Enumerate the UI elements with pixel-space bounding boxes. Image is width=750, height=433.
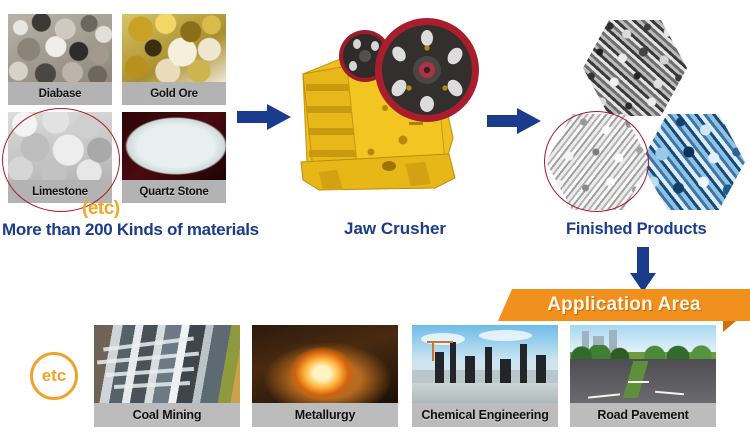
application-card-label: Metallurgy bbox=[252, 403, 398, 427]
material-card-label: Diabase bbox=[8, 82, 112, 105]
finished-hexagon-blue[interactable] bbox=[641, 112, 745, 212]
application-card-label: Chemical Engineering bbox=[412, 403, 558, 427]
metallurgy-photo-icon bbox=[252, 325, 398, 403]
etc-label: etc bbox=[42, 366, 67, 386]
material-card-label: Quartz Stone bbox=[122, 180, 226, 203]
arrow-shaft bbox=[237, 111, 271, 123]
application-etc-badge: etc bbox=[30, 352, 78, 400]
road-photo-icon bbox=[570, 325, 716, 403]
material-card-limestone[interactable]: Limestone bbox=[8, 112, 112, 203]
gold-ore-photo-icon bbox=[122, 14, 226, 82]
chemical-plant-photo-icon bbox=[412, 325, 558, 403]
application-card-label: Coal Mining bbox=[94, 403, 240, 427]
coal-mine-photo-icon bbox=[94, 325, 240, 403]
application-card-metallurgy[interactable]: Metallurgy bbox=[252, 325, 398, 427]
application-card-label: Road Pavement bbox=[570, 403, 716, 427]
finished-caption: Finished Products bbox=[566, 220, 707, 239]
finished-highlight-circle-icon bbox=[544, 111, 649, 212]
arrow-right-icon bbox=[237, 104, 291, 130]
material-card-gold-ore[interactable]: Gold Ore bbox=[122, 14, 226, 105]
rock-photo-icon bbox=[8, 14, 112, 82]
materials-caption: More than 200 Kinds of materials bbox=[2, 220, 259, 240]
banner-fold-icon bbox=[723, 321, 749, 332]
material-card-diabase[interactable]: Diabase bbox=[8, 14, 112, 105]
application-card-coal-mining[interactable]: Coal Mining bbox=[94, 325, 240, 427]
application-area-banner: Application Area bbox=[498, 289, 750, 321]
arrow-head bbox=[517, 108, 541, 134]
application-card-chemical-engineering[interactable]: Chemical Engineering bbox=[412, 325, 558, 427]
jaw-crusher-machine-icon[interactable] bbox=[285, 12, 485, 212]
material-card-label: Gold Ore bbox=[122, 82, 226, 105]
arrow-down-icon bbox=[630, 247, 656, 291]
material-card-quartz-stone[interactable]: Quartz Stone bbox=[122, 112, 226, 203]
limestone-photo-icon bbox=[8, 112, 112, 180]
arrow-shaft bbox=[487, 115, 521, 127]
application-card-road-pavement[interactable]: Road Pavement bbox=[570, 325, 716, 427]
quartz-photo-icon bbox=[122, 112, 226, 180]
arrow-right-icon bbox=[487, 108, 541, 134]
finished-hexagon-coarse-gray[interactable] bbox=[583, 18, 687, 118]
banner-label: Application Area bbox=[498, 289, 750, 321]
diagram-canvas: Diabase Gold Ore Limestone Quartz Stone … bbox=[0, 0, 750, 433]
materials-etc-note: (etc) bbox=[82, 198, 120, 220]
machine-caption: Jaw Crusher bbox=[344, 219, 446, 239]
